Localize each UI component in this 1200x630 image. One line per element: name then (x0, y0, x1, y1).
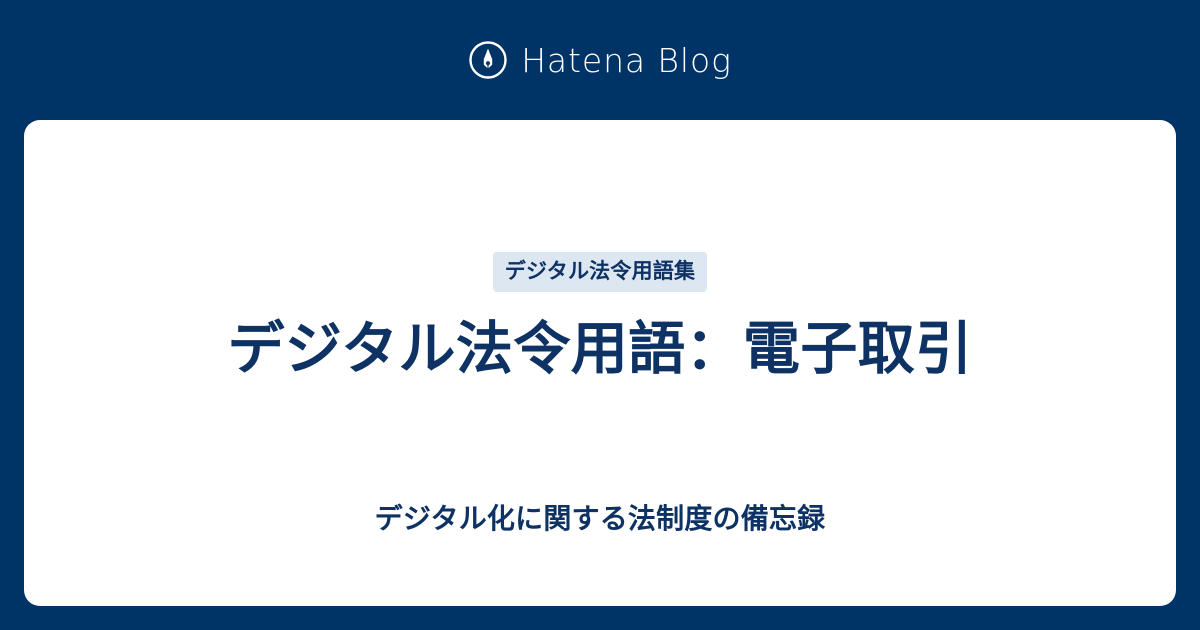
entry-card: デジタル法令用語集 デジタル法令用語：電子取引 デジタル化に関する法制度の備忘録 (24, 120, 1176, 606)
brand-wordmark: Hatena Blog (521, 44, 732, 77)
category-badge-row: デジタル法令用語集 (24, 252, 1176, 292)
ogp-share-card: Hatena Blog デジタル法令用語集 デジタル法令用語：電子取引 デジタル… (0, 0, 1200, 630)
entry-card-inner: デジタル法令用語集 デジタル法令用語：電子取引 デジタル化に関する法制度の備忘録 (24, 120, 1176, 606)
entry-title-row: デジタル法令用語：電子取引 (24, 316, 1176, 383)
brand-header: Hatena Blog (0, 0, 1200, 120)
hatena-pen-nib-icon (468, 40, 508, 80)
blog-name: デジタル化に関する法制度の備忘録 (375, 502, 826, 536)
blog-name-row: デジタル化に関する法制度の備忘録 (24, 502, 1176, 536)
category-badge[interactable]: デジタル法令用語集 (493, 252, 707, 292)
entry-title: デジタル法令用語：電子取引 (227, 316, 972, 383)
